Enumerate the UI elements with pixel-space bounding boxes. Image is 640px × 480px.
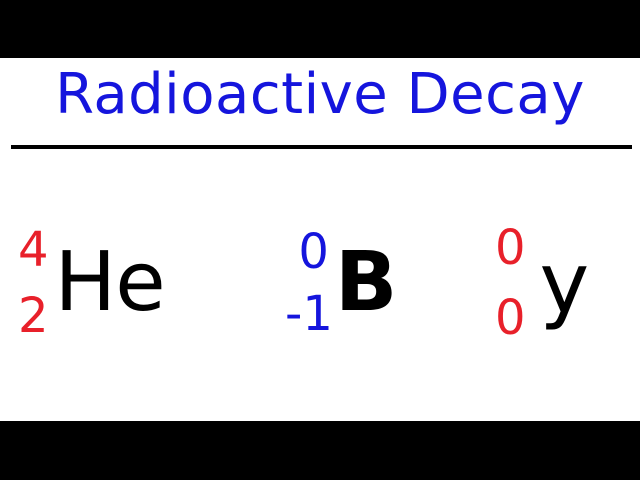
nuclide-beta-numbers: 0 -1 [285, 208, 333, 358]
nuclide-gamma-ray: 0 0 y [495, 208, 589, 358]
slide-canvas: Radioactive Decay 4 2 He 0 -1 B [0, 58, 640, 421]
title-underline-rule [11, 145, 632, 149]
nuclide-alpha-mass-number: 4 [18, 225, 49, 275]
slide-frame: Radioactive Decay 4 2 He 0 -1 B [0, 0, 640, 480]
letterbox-bar-top [0, 0, 640, 58]
nuclide-gamma-charge-number: 0 [495, 293, 526, 343]
letterbox-bar-bottom [0, 421, 640, 480]
nuclide-beta-mass-number: 0 [298, 227, 333, 277]
nuclide-beta-particle: 0 -1 B [285, 208, 397, 358]
nuclide-beta-charge-number: -1 [285, 289, 333, 339]
nuclide-alpha-symbol: He [55, 242, 165, 324]
page-title: Radioactive Decay [0, 60, 640, 130]
nuclide-gamma-symbol: y [540, 241, 590, 325]
nuclide-alpha-numbers: 4 2 [18, 208, 49, 358]
nuclide-beta-symbol: B [335, 242, 398, 324]
nuclide-notation-row: 4 2 He 0 -1 B 0 0 y [0, 208, 640, 368]
nuclide-gamma-numbers: 0 0 [495, 208, 526, 358]
nuclide-alpha-particle: 4 2 He [18, 208, 165, 358]
nuclide-alpha-charge-number: 2 [18, 291, 49, 341]
nuclide-gamma-mass-number: 0 [495, 223, 526, 273]
